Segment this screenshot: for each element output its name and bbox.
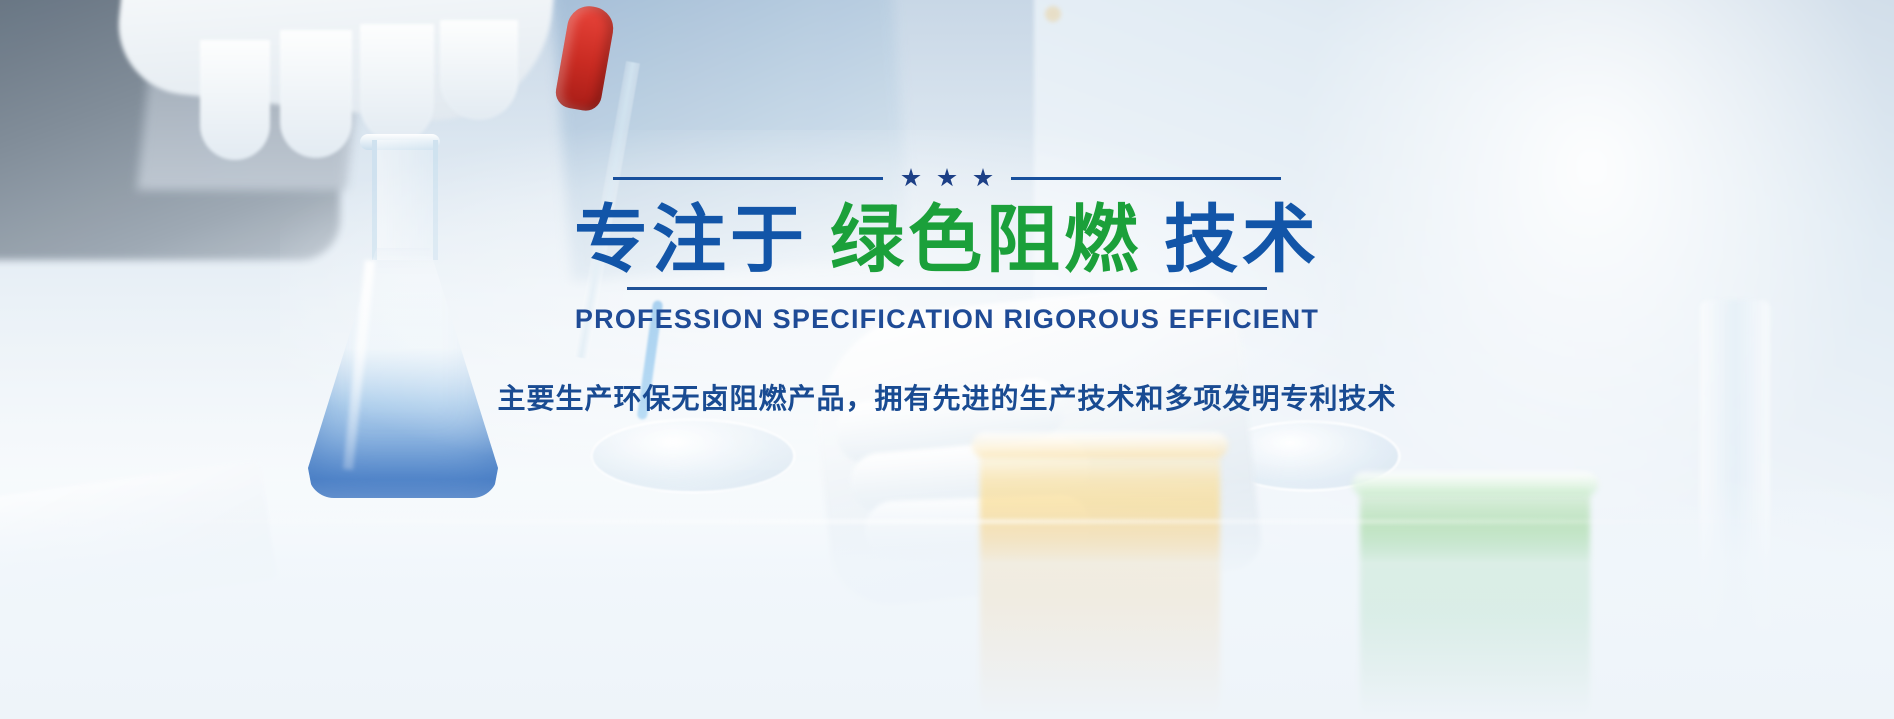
- stars-group: [901, 168, 993, 188]
- subtitle-english: PROFESSION SPECIFICATION RIGOROUS EFFICI…: [575, 304, 1319, 335]
- tagline-chinese: 主要生产环保无卤阻燃产品，拥有先进的生产技术和多项发明专利技术: [497, 377, 1396, 417]
- headline-part-2: 绿色阻燃: [830, 198, 1142, 281]
- decorative-rule-with-stars: [613, 168, 1281, 188]
- star-icon: [937, 168, 957, 188]
- headline-part-1: 专注于: [574, 198, 808, 281]
- rule-right: [1011, 177, 1281, 180]
- star-icon: [973, 168, 993, 188]
- rule-left: [613, 177, 883, 180]
- hero-banner: 专注于绿色阻燃技术 PROFESSION SPECIFICATION RIGOR…: [0, 0, 1894, 719]
- banner-content: 专注于绿色阻燃技术 PROFESSION SPECIFICATION RIGOR…: [0, 0, 1894, 719]
- page-title: 专注于绿色阻燃技术: [574, 202, 1320, 279]
- headline-part-3: 技术: [1164, 198, 1320, 281]
- headline-underline: [627, 287, 1267, 290]
- star-icon: [901, 168, 921, 188]
